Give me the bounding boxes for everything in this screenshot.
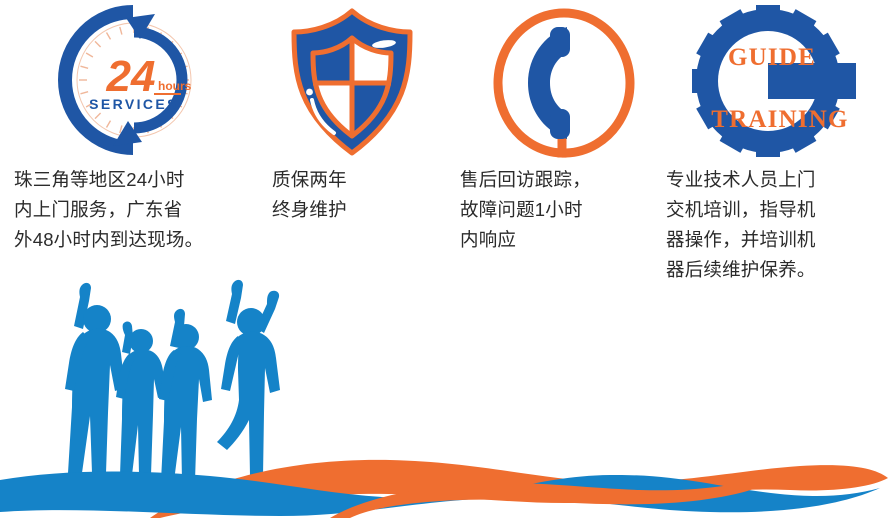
- feature-item-warranty: 质保两年 终身维护: [250, 0, 450, 300]
- feature-item-callback: 售后回访跟踪， 故障问题1小时 内响应: [450, 0, 660, 300]
- gear-shape: [688, 5, 863, 160]
- shield-highlight-dot: [306, 89, 313, 96]
- feature-icon-wrap: 24 hours SERVICES: [0, 0, 250, 165]
- bottom-artwork: [0, 278, 890, 518]
- feature-caption: 售后回访跟踪， 故障问题1小时 内响应: [450, 165, 660, 255]
- phone-handset-bottom: [550, 109, 570, 139]
- features-row: 24 hours SERVICES 珠三角等地区24小时 内上门服务，广东省 外…: [0, 0, 890, 300]
- phone-callback-icon: [478, 5, 633, 160]
- feature-icon-wrap: [250, 0, 450, 165]
- feature-icon-wrap: GUIDE TRAINING: [660, 0, 890, 165]
- shield-warranty-icon: [282, 5, 422, 160]
- feature-item-training: GUIDE TRAINING 专业技术人员上门 交机培训，指导机 器操作，并培训…: [660, 0, 890, 300]
- badge-line-training: TRAINING: [711, 106, 848, 133]
- waves-svg: [0, 426, 890, 518]
- badge-word: SERVICES: [89, 96, 179, 112]
- feature-caption: 专业技术人员上门 交机培训，指导机 器操作，并培训机 器后续维护保养。: [660, 165, 890, 285]
- badge-number: 24: [106, 52, 156, 101]
- badge-line-guide: GUIDE: [728, 44, 816, 71]
- feature-item-24h-service: 24 hours SERVICES 珠三角等地区24小时 内上门服务，广东省 外…: [0, 0, 250, 300]
- phone-handset-top: [550, 27, 570, 57]
- service-promise-banner: 24 hours SERVICES 珠三角等地区24小时 内上门服务，广东省 外…: [0, 0, 890, 518]
- feature-caption: 珠三角等地区24小时 内上门服务，广东省 外48小时内到达现场。: [0, 165, 250, 255]
- feature-icon-wrap: [450, 0, 660, 165]
- twentyfour-hours-service-icon: 24 hours SERVICES: [54, 5, 214, 160]
- badge-unit: hours: [158, 79, 192, 93]
- ribbon-waves-decoration: [0, 426, 890, 518]
- gear-guide-training-icon: GUIDE TRAINING: [688, 5, 863, 160]
- feature-caption: 质保两年 终身维护: [250, 165, 450, 225]
